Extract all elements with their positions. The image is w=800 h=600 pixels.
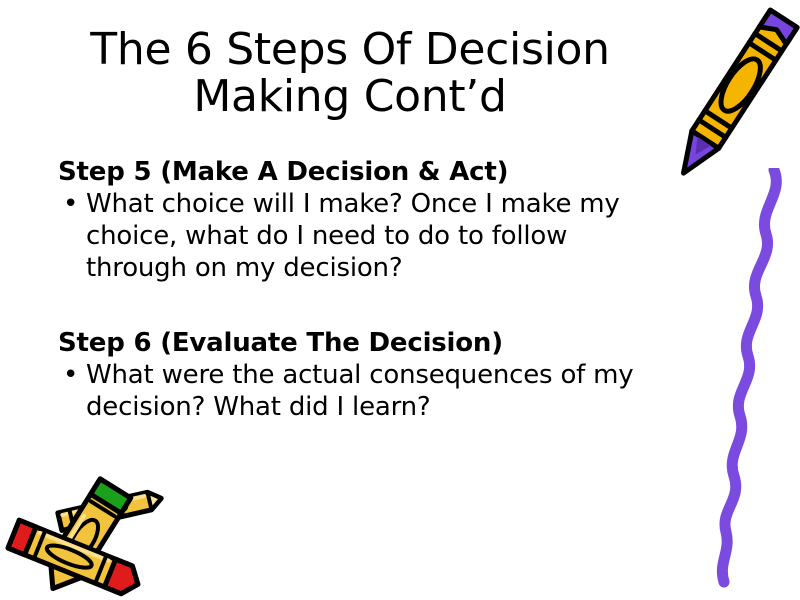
content-block-step6: Step 6 (Evaluate The Decision) • What we… <box>58 328 706 424</box>
step5-bullet-line-3: through on my decision? <box>86 253 706 285</box>
step5-heading: Step 5 (Make A Decision & Act) <box>58 157 706 187</box>
bullet-marker-icon: • <box>58 189 86 221</box>
bullet-marker-icon: • <box>58 360 86 392</box>
step6-bullet-text: What were the actual consequences of my … <box>86 360 706 423</box>
step6-heading: Step 6 (Evaluate The Decision) <box>58 328 706 358</box>
slide-canvas: The 6 Steps Of Decision Making Cont’d St… <box>0 0 800 600</box>
step6-bullet-line-2: decision? What did I learn? <box>86 392 706 424</box>
title-line-2: Making Cont’d <box>40 73 660 120</box>
slide-body: Step 5 (Make A Decision & Act) • What ch… <box>58 157 706 424</box>
step5-bullet-line-1: What choice will I make? Once I make my <box>86 189 706 221</box>
title-line-1: The 6 Steps Of Decision <box>40 26 660 73</box>
content-block-step5: Step 5 (Make A Decision & Act) • What ch… <box>58 157 706 284</box>
step5-bullet-text: What choice will I make? Once I make my … <box>86 189 706 284</box>
step5-bullet-item: • What choice will I make? Once I make m… <box>58 189 706 284</box>
block-spacer <box>58 284 706 328</box>
crayons-bottomleft-icon <box>2 462 212 600</box>
step6-bullet-item: • What were the actual consequences of m… <box>58 360 706 423</box>
step5-bullet-line-2: choice, what do I need to do to follow <box>86 221 706 253</box>
step6-bullet-line-1: What were the actual consequences of my <box>86 360 706 392</box>
page-title: The 6 Steps Of Decision Making Cont’d <box>40 26 660 120</box>
